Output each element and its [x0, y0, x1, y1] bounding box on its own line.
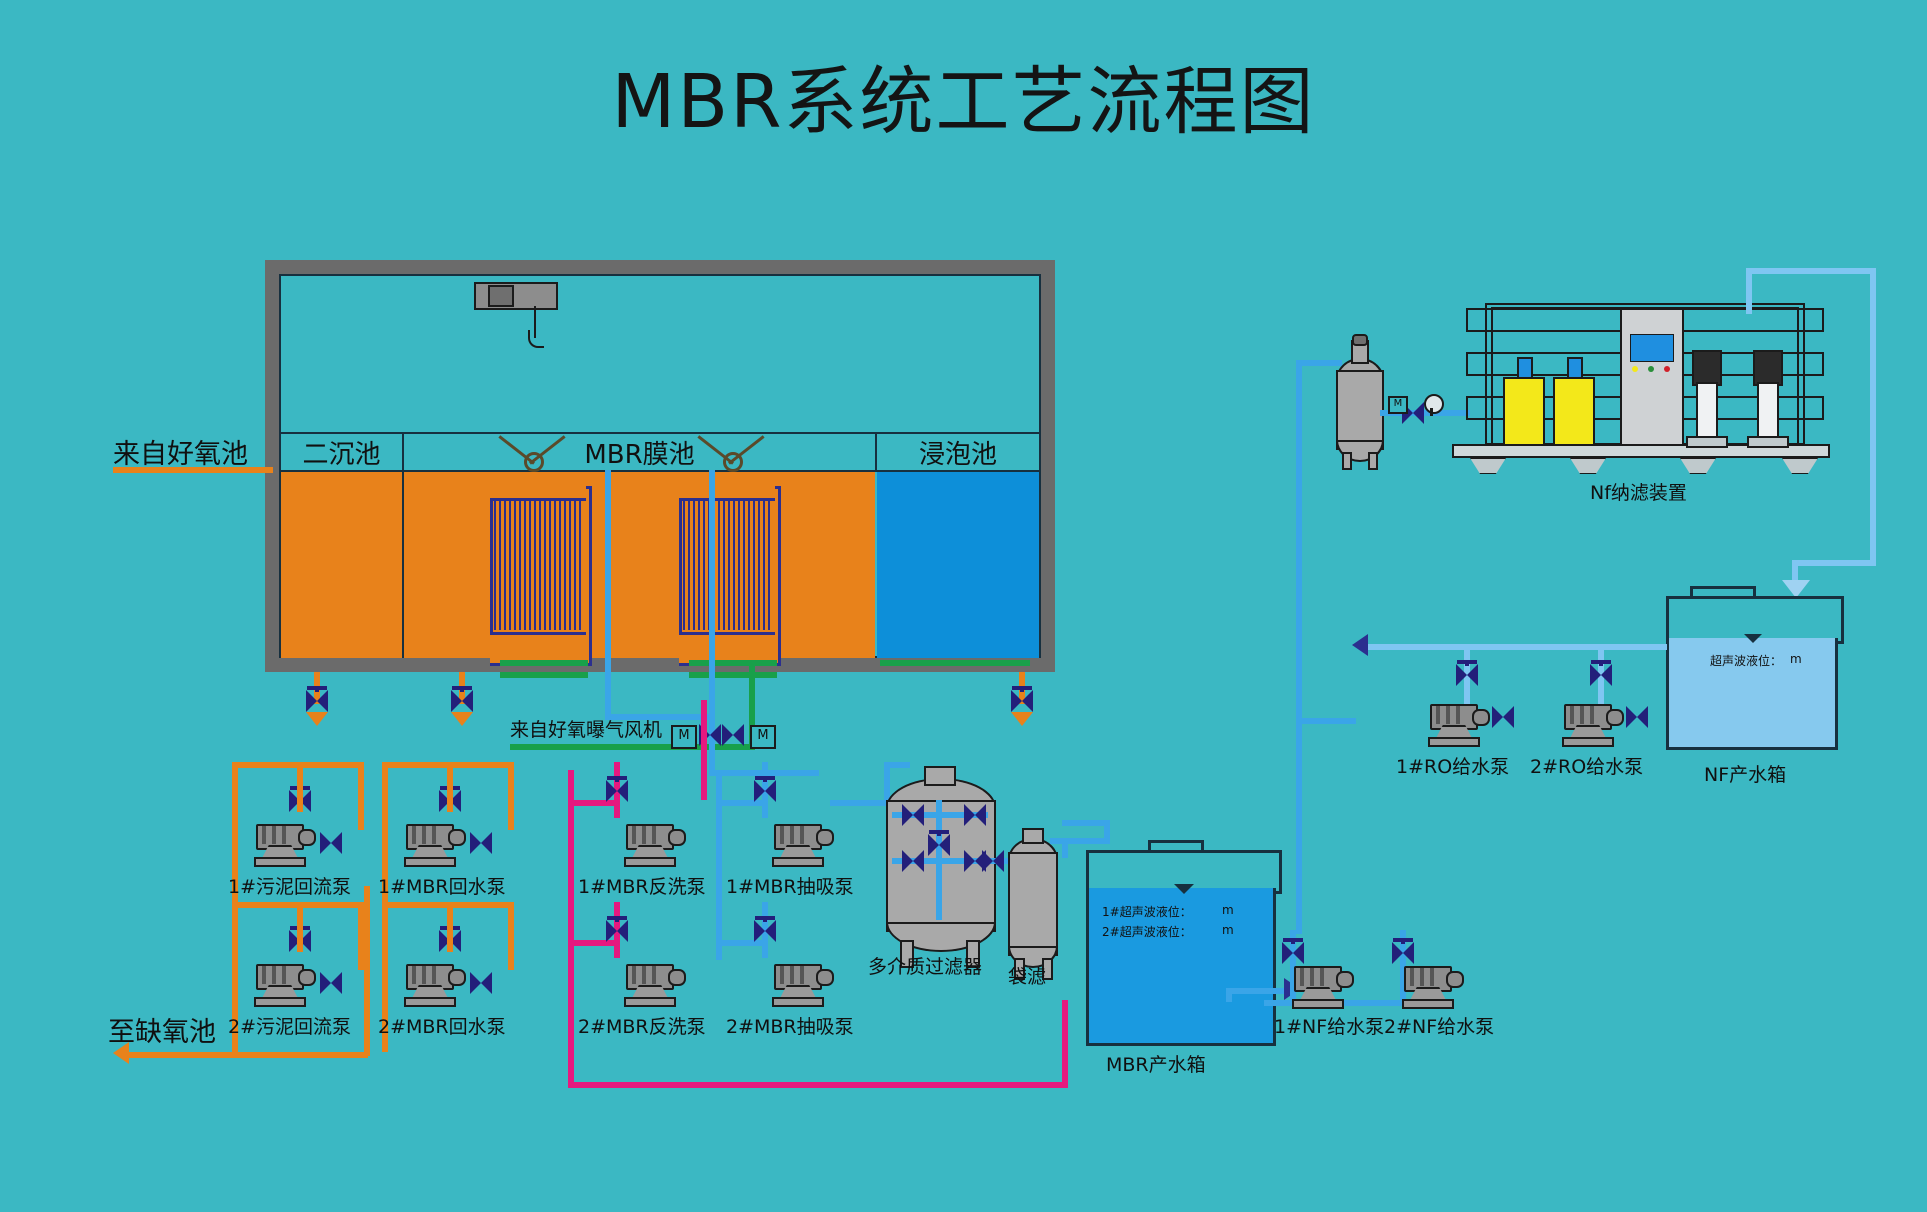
membrane-module-2-bottom-bar	[679, 632, 775, 663]
nf-hp-pump-2-base	[1747, 436, 1789, 448]
mbr-tank-outlet-drop	[1226, 988, 1232, 1002]
nf-permeate-to-tank	[1792, 560, 1876, 566]
backwash-riser-up	[701, 700, 707, 800]
blower-branch-module-1b	[500, 672, 588, 678]
ro-discharge-header	[1366, 644, 1458, 650]
mbr-suction-pump-1[interactable]	[770, 820, 832, 864]
blower-branch-soaking	[880, 660, 1030, 666]
mbr-return-water-pump-2[interactable]	[402, 960, 464, 1004]
cartridge-strainer-body	[1336, 370, 1384, 450]
mbr-product-tank-level-marker-icon	[1174, 884, 1194, 894]
ro-pump-1-outlet-valve[interactable]	[1488, 704, 1518, 730]
ro-feed-pump-2-label: 2#RO给水泵	[1530, 752, 1643, 779]
nf-unit-foot-2	[1570, 458, 1606, 474]
suction-header-left	[716, 770, 722, 960]
sludge-return-pump-2[interactable]	[252, 960, 314, 1004]
crane-hoist-body	[474, 282, 558, 310]
nf-unit-foot-4	[1782, 458, 1818, 474]
nf-unit-foot-1	[1470, 458, 1506, 474]
ro-discharge-arrow	[1352, 634, 1368, 656]
strainer-motor-tag: M	[1388, 396, 1408, 414]
membrane-module-2-top-bar	[679, 486, 775, 501]
cartridge-strainer-knob-icon	[1352, 334, 1368, 346]
return-pump-2-outlet-valve[interactable]	[466, 970, 496, 996]
multimedia-filter-valve-3[interactable]	[898, 848, 928, 874]
backwash-header-left	[568, 770, 574, 1088]
basin-wall-top	[265, 260, 1055, 274]
outlet-label: 至缺氧池	[108, 1010, 216, 1049]
nf-hp-pump-2-body	[1757, 382, 1779, 444]
membrane-module-2-fibers	[683, 500, 771, 630]
mbr-backwash-pump-1-label: 1#MBR反洗泵	[578, 872, 706, 899]
nf-hp-pump-1-body	[1696, 382, 1718, 444]
inlet-pipe	[113, 467, 273, 473]
multimedia-filter-valve-2[interactable]	[960, 802, 990, 828]
nf-indicator-red	[1664, 366, 1670, 372]
nf-unit-label: Nf纳滤装置	[1590, 478, 1687, 505]
sludge-pump-1-suction-riser	[297, 762, 303, 812]
clarifier-membrane-divider	[402, 472, 404, 658]
nf-indicator-yellow	[1632, 366, 1638, 372]
permeate-riser-2	[709, 470, 715, 720]
nf-permeate-top-run	[1746, 268, 1876, 274]
suction-pump-1-valve[interactable]	[752, 776, 778, 806]
sludge-return-pump-1-label: 1#污泥回流泵	[228, 872, 351, 899]
mbr-level-1-unit: m	[1222, 903, 1234, 917]
return-pump-2-suction-riser	[447, 902, 453, 952]
membrane-module-1-top-bar	[490, 486, 586, 501]
membrane-module-1-bottom-bar	[490, 632, 586, 663]
bagfilter-to-tank-pipe	[1050, 838, 1110, 844]
nf-feed-pump-1-label: 1#NF给水泵	[1274, 1012, 1384, 1039]
nf-permeate-down-from-unit	[1746, 268, 1752, 314]
nf-product-tank-level-marker-icon	[1744, 634, 1762, 643]
section-label-mbr-membrane-tank: MBR膜池	[404, 432, 875, 472]
nf-hp-pump-1-base	[1686, 436, 1728, 448]
bagfilter-tank-drop	[1062, 838, 1068, 858]
mbr-membrane-tank-sludge-fill	[404, 472, 875, 658]
basin-wall-right	[1041, 260, 1055, 672]
mbr-level-1-label: 1#超声波液位：	[1102, 903, 1192, 920]
mbr-product-tank-label: MBR产水箱	[1106, 1050, 1206, 1077]
nf-hp-pump-2-motor	[1753, 350, 1783, 386]
suction-discharge-top	[884, 762, 910, 768]
drain-arrow-soaking	[1011, 712, 1033, 726]
bag-filter-label: 袋滤	[1008, 962, 1046, 989]
mbr-backwash-pump-2-label: 2#MBR反洗泵	[578, 1012, 706, 1039]
soaking-tank-water-fill	[877, 472, 1039, 658]
crane-hook-icon	[528, 330, 544, 348]
permeate-header	[605, 714, 715, 720]
mbr-backwash-pump-2[interactable]	[622, 960, 684, 1004]
drain-arrow-membrane	[451, 712, 473, 726]
filter-outlet-valve[interactable]	[978, 848, 1008, 874]
crane-hoist-drum	[488, 285, 514, 307]
sludge-return-pump-1[interactable]	[252, 820, 314, 864]
nf-feed-riser-main	[1296, 718, 1302, 934]
motorized-valve-2[interactable]	[718, 722, 748, 748]
ro-feed-pump-1-label: 1#RO给水泵	[1396, 752, 1509, 779]
motor-tag-2: M	[750, 725, 776, 749]
nf-unit-foot-3	[1680, 458, 1716, 474]
nf-feed-strainer-riser	[1296, 360, 1302, 720]
backwash-header-bottom	[568, 1082, 1068, 1088]
cartridge-strainer-foot-right	[1368, 452, 1378, 470]
nf-indicator-green	[1648, 366, 1654, 372]
outlet-riser	[364, 886, 370, 1056]
blower-branch-module-1	[500, 660, 588, 666]
sludge-pump-2-outlet-valve[interactable]	[316, 970, 346, 996]
permeate-riser-1	[605, 470, 611, 720]
mbr-return-water-pump-1[interactable]	[402, 820, 464, 864]
multimedia-filter-neck	[924, 766, 956, 786]
nf-hp-pump-1-motor	[1692, 350, 1722, 386]
nf-feed-to-strainer	[1296, 718, 1356, 724]
pressure-gauge-icon	[1424, 394, 1444, 414]
drain-arrow-clarifier	[306, 712, 328, 726]
nf-feed-to-strainer-top	[1296, 360, 1342, 366]
section-label-text: 二沉池	[281, 432, 402, 472]
return-loop-2-right	[508, 902, 514, 970]
sludge-loop-1-right	[358, 762, 364, 830]
multimedia-filter-valve-5[interactable]	[926, 830, 952, 860]
mbr-level-2-unit: m	[1222, 923, 1234, 937]
nf-chemical-tank-2-cap	[1567, 357, 1583, 379]
nf-feed-pump-2[interactable]	[1400, 962, 1462, 1006]
cartridge-strainer-foot-left	[1342, 452, 1352, 470]
blower-branch-module-2b	[689, 672, 777, 678]
outlet-pipe-to-anoxic	[128, 1052, 368, 1058]
nf-product-tank-label: NF产水箱	[1704, 760, 1786, 787]
process-flow-diagram: MBR系统工艺流程图 二沉池 MBR膜池 浸泡池	[0, 0, 1927, 1212]
nf-level-label: 超声波液位：	[1710, 652, 1782, 669]
section-label-soaking-tank: 浸泡池	[877, 432, 1039, 472]
nf-chemical-tank-1-cap	[1517, 357, 1533, 379]
multimedia-filter-valve-1[interactable]	[898, 802, 928, 828]
motor-tag-1: M	[671, 725, 697, 749]
nf-level-unit: m	[1790, 652, 1802, 666]
nf-control-cabinet[interactable]	[1620, 308, 1684, 446]
backwash-from-product-tank	[1062, 1000, 1068, 1086]
blower-branch-module-2	[689, 660, 777, 666]
membrane-module-1-fibers	[494, 500, 582, 630]
section-label-text: MBR膜池	[404, 432, 875, 472]
bag-filter-neck	[1022, 828, 1044, 844]
backwash-pump-1-valve[interactable]	[604, 776, 630, 806]
nf-chemical-tank-2	[1553, 377, 1595, 446]
ro-pump-2-valve[interactable]	[1588, 660, 1614, 690]
mbr-tank-outlet-pipe	[1226, 988, 1286, 994]
mbr-backwash-pump-1[interactable]	[622, 820, 684, 864]
bagfilter-top-feed	[1062, 820, 1110, 826]
ro-pump-1-valve[interactable]	[1454, 660, 1480, 690]
sludge-return-pump-2-label: 2#污泥回流泵	[228, 1012, 351, 1039]
pressure-gauge-stem	[1430, 408, 1433, 416]
backwash-discharge-header	[701, 790, 707, 800]
return-pump-1-outlet-valve[interactable]	[466, 830, 496, 856]
nf-hmi-screen[interactable]	[1630, 334, 1674, 362]
sludge-pump-2-suction-riser	[297, 902, 303, 952]
backwash-pump-2-valve[interactable]	[604, 916, 630, 946]
suction-pump-2-valve[interactable]	[752, 916, 778, 946]
mbr-level-2-label: 2#超声波液位：	[1102, 923, 1192, 940]
mbr-suction-pump-2-label: 2#MBR抽吸泵	[726, 1012, 854, 1039]
page-title: MBR系统工艺流程图	[0, 42, 1927, 149]
nf-feed-pump-1[interactable]	[1290, 962, 1352, 1006]
return-pump-1-suction-riser	[447, 762, 453, 812]
inlet-label: 来自好氧池	[113, 432, 248, 471]
mbr-return-water-pump-2-label: 2#MBR回水泵	[378, 1012, 506, 1039]
bag-filter-body	[1008, 852, 1058, 956]
nf-chemical-tank-1	[1503, 377, 1545, 446]
ro-feed-pump-2[interactable]	[1560, 700, 1622, 744]
ro-feed-pump-1[interactable]	[1426, 700, 1488, 744]
mbr-return-water-pump-1-label: 1#MBR回水泵	[378, 872, 506, 899]
section-label-secondary-clarifier: 二沉池	[281, 432, 402, 472]
multimedia-filter-label: 多介质过滤器	[868, 952, 982, 979]
mbr-suction-pump-2[interactable]	[770, 960, 832, 1004]
ro-suction-header	[1455, 644, 1667, 650]
suction-discharge-header	[830, 800, 890, 806]
basin-wall-left	[265, 260, 279, 672]
section-label-text: 浸泡池	[877, 432, 1039, 472]
nf-permeate-right-drop	[1870, 268, 1876, 566]
mbr-suction-pump-1-label: 1#MBR抽吸泵	[726, 872, 854, 899]
sludge-pump-1-outlet-valve[interactable]	[316, 830, 346, 856]
nf-feed-pump-2-label: 2#NF给水泵	[1384, 1012, 1494, 1039]
return-loop-1-right	[508, 762, 514, 830]
secondary-clarifier-sludge-fill	[281, 472, 402, 658]
ro-pump-2-outlet-valve[interactable]	[1622, 704, 1652, 730]
